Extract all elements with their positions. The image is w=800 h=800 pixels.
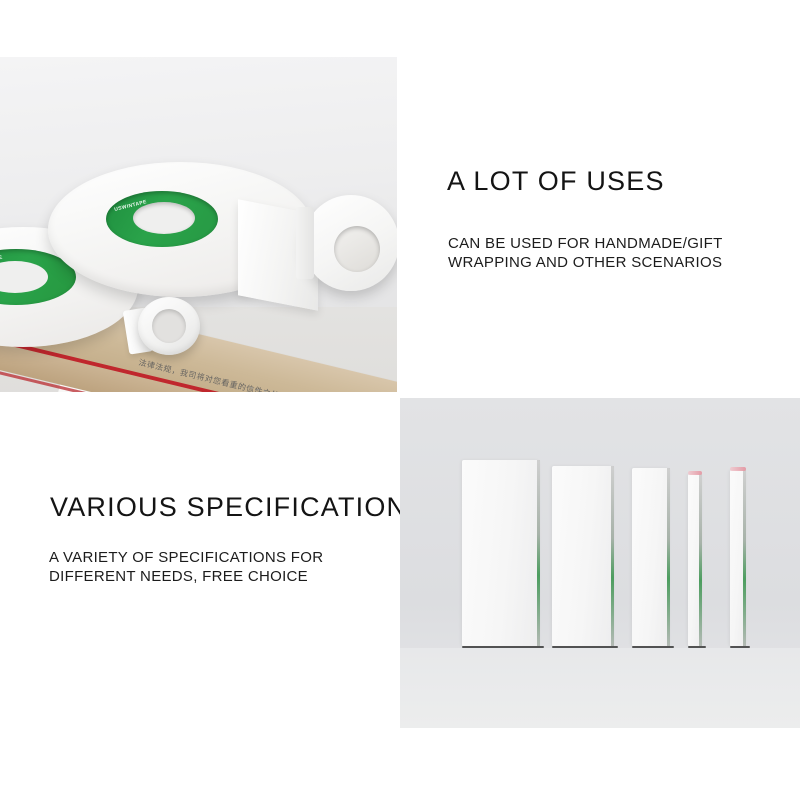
- uses-heading: A LOT OF USES: [447, 166, 665, 197]
- specs-subtitle-line-1: A VARIETY OF SPECIFICATIONS FOR: [49, 548, 379, 567]
- tape-roll-contact-shadow: [730, 646, 750, 648]
- uses-subtitle-block: CAN BE USED FOR HANDMADE/GIFT WRAPPING A…: [448, 234, 778, 272]
- tape-curled-loop-hole: [152, 309, 186, 343]
- tape-roll-spec-2: [552, 466, 614, 646]
- tape-roll-contact-shadow: [552, 646, 618, 648]
- tape-roll-contact-shadow: [632, 646, 674, 648]
- tape-roll-core-edge: [699, 474, 702, 646]
- specs-subtitle-line-2: DIFFERENT NEEDS, FREE CHOICE: [49, 567, 379, 586]
- tape-roll-standing-core: [334, 226, 380, 272]
- uses-subtitle-line-1: CAN BE USED FOR HANDMADE/GIFT: [448, 234, 778, 253]
- tape-roll-spec-1: [462, 460, 540, 646]
- product-photo-uses: 法律法规，我司将对您看重的信件之外的内件物品进行检查，请配合 USWINTAPE…: [0, 57, 397, 392]
- collage-canvas: 法律法规，我司将对您看重的信件之外的内件物品进行检查，请配合 USWINTAPE…: [0, 0, 800, 800]
- uses-subtitle-line-2: WRAPPING AND OTHER SCENARIOS: [448, 253, 778, 272]
- photo-floor: [400, 648, 800, 728]
- tape-roll-pink-top: [688, 471, 702, 475]
- tape-roll-spec-4: [688, 474, 702, 646]
- specs-subtitle-block: A VARIETY OF SPECIFICATIONS FOR DIFFEREN…: [49, 548, 379, 586]
- uses-heading-block: A LOT OF USES: [447, 166, 665, 197]
- tape-roll-core-edge: [743, 470, 746, 646]
- tape-roll-main-hole: [133, 202, 195, 234]
- tape-roll-contact-shadow: [462, 646, 544, 648]
- tape-roll-pink-top: [730, 467, 746, 471]
- tape-roll-core-edge: [537, 460, 540, 646]
- product-photo-specifications: [400, 398, 800, 728]
- tape-roll-standing-edge: [296, 207, 314, 279]
- specs-heading-block: VARIOUS SPECIFICATIONS: [50, 492, 426, 523]
- tape-roll-contact-shadow: [688, 646, 706, 648]
- tape-roll-spec-3: [632, 468, 670, 646]
- specs-heading: VARIOUS SPECIFICATIONS: [50, 492, 426, 523]
- tape-roll-core-edge: [611, 466, 614, 646]
- tape-roll-core-edge: [667, 468, 670, 646]
- tape-roll-spec-5: [730, 470, 746, 646]
